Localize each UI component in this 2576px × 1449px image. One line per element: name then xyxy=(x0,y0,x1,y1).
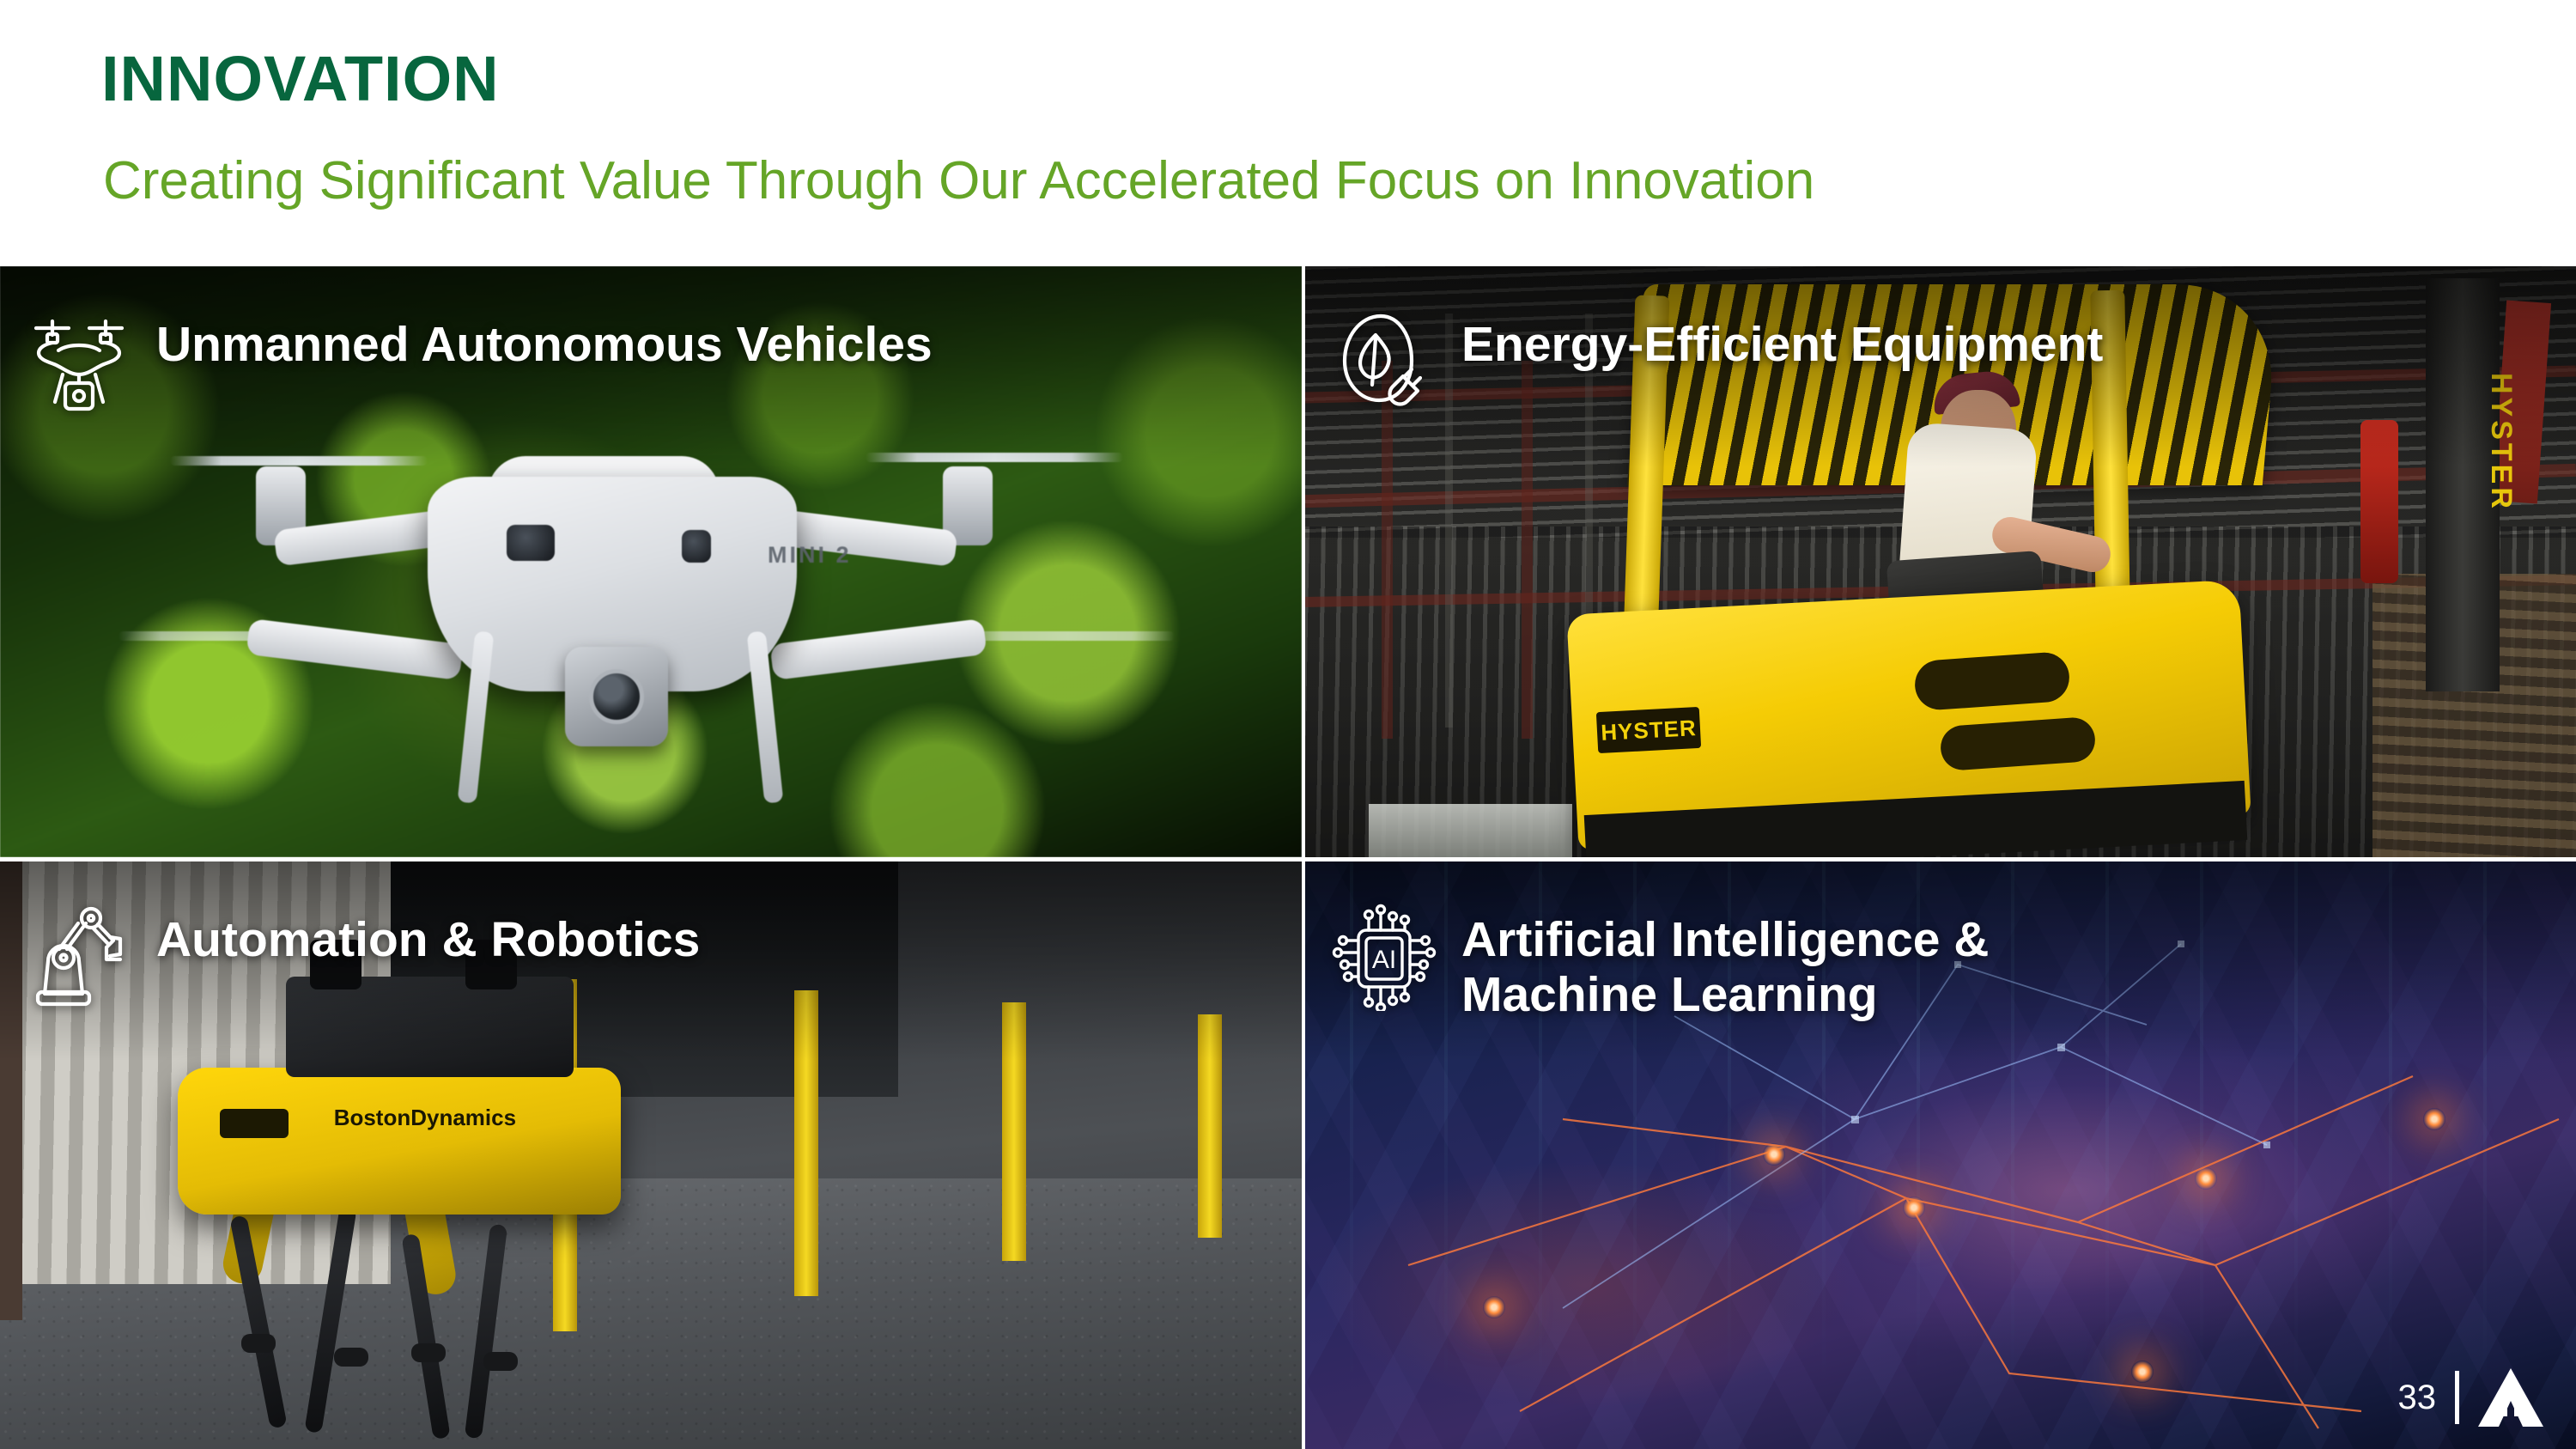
quadrant-header-ai: AI Artificial In xyxy=(1305,861,1989,1023)
svg-text:AI: AI xyxy=(1372,946,1396,974)
quadrant-header-energy: Energy-Efficient Equipment xyxy=(1305,266,2103,416)
slide: INNOVATION Creating Significant Value Th… xyxy=(0,0,2576,1449)
quadrant-header-uav: Unmanned Autonomous Vehicles xyxy=(0,266,933,416)
quadrant-unmanned-autonomous-vehicles[interactable]: MINI 2 xyxy=(0,266,1302,857)
drone-photo-subject: MINI 2 xyxy=(118,374,1183,820)
footer-divider xyxy=(2455,1371,2459,1424)
energy-leaf-plug-icon xyxy=(1329,306,1439,416)
robot-arm-icon xyxy=(24,901,134,1011)
page-number: 33 xyxy=(2398,1379,2437,1417)
quadrant-artificial-intelligence[interactable]: AI Artificial In xyxy=(1305,861,2576,1449)
spot-brand-text: BostonDynamics xyxy=(334,1105,516,1131)
quadrant-energy-efficient-equipment[interactable]: HYSTER HYSTER xyxy=(1305,266,2576,857)
forklift-brand-text: HYSTER xyxy=(2484,373,2518,512)
drone-icon xyxy=(24,306,134,416)
page-subtitle: Creating Significant Value Through Our A… xyxy=(103,153,1814,209)
quadrant-label-ai: Artificial Intelligence & Machine Learni… xyxy=(1461,901,1989,1023)
quadrant-header-robotics: Automation & Robotics xyxy=(0,861,700,1011)
quadrant-automation-and-robotics[interactable]: BostonDynamics xyxy=(0,861,1302,1449)
page-title: INNOVATION xyxy=(101,47,500,111)
quadrant-label-robotics: Automation & Robotics xyxy=(156,901,700,968)
drone-model-text: MINI 2 xyxy=(768,542,852,569)
slide-footer: 33 xyxy=(2398,1368,2544,1427)
quadrant-label-energy: Energy-Efficient Equipment xyxy=(1461,306,2103,373)
triangle-arrow-logo-icon xyxy=(2478,1368,2543,1427)
slide-header: INNOVATION Creating Significant Value Th… xyxy=(0,0,2576,266)
quadrant-label-uav: Unmanned Autonomous Vehicles xyxy=(156,306,933,373)
ai-chip-icon: AI xyxy=(1329,901,1439,1011)
innovation-quadrant-grid: MINI 2 xyxy=(0,266,2576,1449)
forklift-plate-text: HYSTER xyxy=(1596,707,1701,753)
